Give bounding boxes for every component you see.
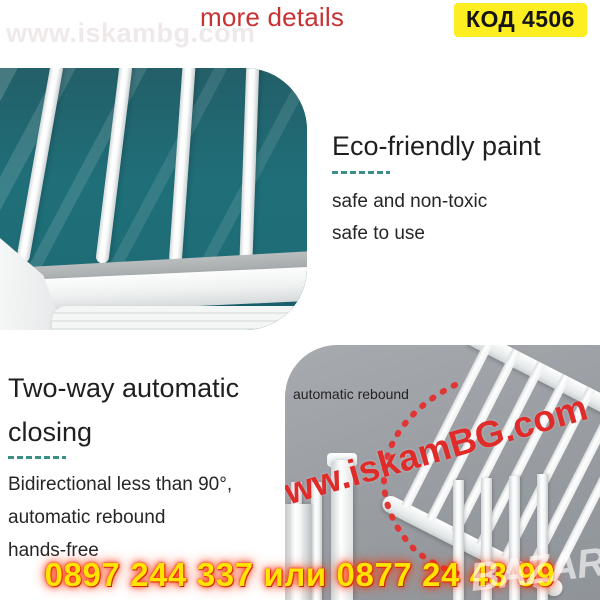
photo-bars-scene (0, 68, 307, 330)
feature-title: Eco-friendly paint (332, 128, 587, 164)
feature-block-two-way-closing: Two-way automatic closing Bidirectional … (8, 366, 288, 567)
feature-block-eco-friendly-paint: Eco-friendly paint safe and non-toxic sa… (332, 128, 587, 250)
product-photo-bars (0, 68, 307, 330)
header-bar: www.iskambg.com more details КОД 4506 (0, 0, 600, 46)
dashed-divider-icon (332, 171, 390, 174)
promo-title: more details (200, 2, 344, 33)
feature-line: automatic rebound (8, 501, 288, 534)
dashed-divider-icon (8, 456, 66, 459)
feature-title: Two-way automatic closing (8, 366, 288, 454)
feature-line: safe and non-toxic (332, 186, 587, 218)
product-code-badge: КОД 4506 (454, 3, 587, 37)
gate-base-plate (52, 306, 307, 330)
rebound-callout-label: automatic rebound (293, 386, 409, 402)
feature-line: safe to use (332, 218, 587, 250)
feature-line: Bidirectional less than 90°, (8, 468, 288, 501)
